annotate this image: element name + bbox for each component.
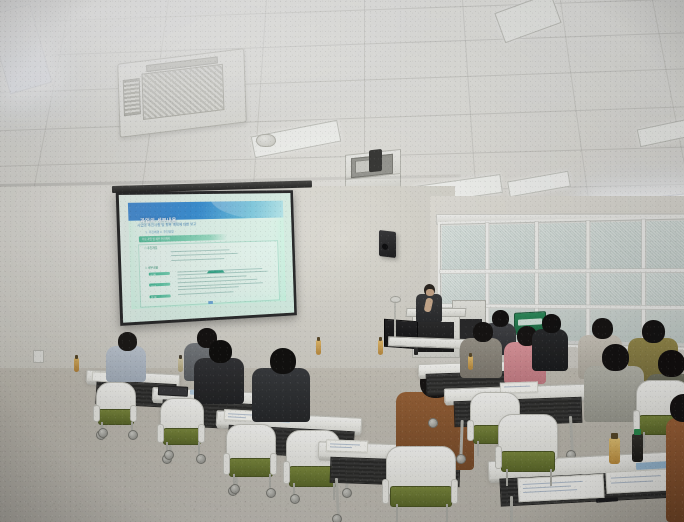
slide-footer-mark	[208, 301, 213, 304]
microphone-icon	[390, 296, 401, 303]
beverage-bottle	[632, 434, 643, 462]
presenter-head	[424, 284, 435, 296]
attendee-mid-1	[460, 322, 502, 376]
wall-speaker-icon	[379, 230, 396, 258]
beverage-bottle	[178, 358, 183, 372]
chair-caster	[230, 484, 240, 494]
beverage-bottle	[609, 438, 620, 464]
wall-outlet-icon	[33, 350, 44, 363]
chair-center-front	[386, 446, 454, 522]
chair-caster	[290, 494, 300, 504]
table-caster	[332, 514, 342, 522]
table-caster	[342, 488, 352, 498]
laptop	[158, 385, 188, 397]
chair-caster	[266, 488, 276, 498]
slide-chip-2-label: 2단계	[151, 284, 157, 288]
microphone-stand	[394, 300, 396, 340]
light-panel-front-left	[0, 4, 52, 95]
seminar-room-photo: 과업의 세부내용 사업의 추진사항 및 향후 계획에 대한 보고 1. 추진배경…	[0, 0, 684, 522]
attendee-right-3	[584, 344, 644, 420]
table-caster	[428, 418, 438, 428]
slide-section-label: 주요 과업 및 세부 추진계획	[142, 236, 170, 241]
attendee-left-4	[252, 348, 310, 420]
slide-subhead-1: □ 추진개요	[145, 246, 158, 250]
chair-caster	[196, 454, 206, 464]
slide-subhead-2: □ 세부내용	[145, 265, 158, 269]
attendee-far-right-edge	[666, 394, 684, 522]
beverage-bottle	[378, 340, 383, 355]
handout-document	[326, 439, 368, 452]
slide-chip-2: 2단계	[149, 283, 171, 287]
slide-subtitle: 사업의 추진사항 및 향후 계획에 대한 보고	[137, 222, 196, 228]
beverage-bottle	[316, 340, 321, 355]
slide-body: □ 추진개요 □ 세부내용 1단계 2단계	[138, 240, 280, 308]
table-caster	[456, 454, 466, 464]
light-panel-right-edge	[637, 119, 684, 147]
chair-front-right	[498, 414, 556, 486]
chair-caster	[164, 450, 174, 460]
attendee-mid-3	[532, 314, 568, 370]
chair-left-1	[96, 382, 134, 434]
chair-left-2	[160, 398, 202, 456]
projection-screen: 과업의 세부내용 사업의 추진사항 및 향후 계획에 대한 보고 1. 추진배경…	[116, 190, 297, 326]
chair-left-3	[226, 424, 274, 490]
chair-caster	[128, 430, 138, 440]
presentation-slide: 과업의 세부내용 사업의 추진사항 및 향후 계획에 대한 보고 1. 추진배경…	[128, 200, 286, 309]
air-conditioner-cassette-icon	[117, 48, 247, 138]
slide-chip-3-label: 3단계	[151, 296, 157, 300]
slide-chip-3: 3단계	[149, 295, 171, 299]
ceiling-sensor-icon	[256, 134, 276, 147]
chair-caster	[98, 428, 108, 438]
slide-chip-1: 1단계	[148, 272, 170, 275]
slide-chip-1-label: 1단계	[150, 273, 156, 277]
beverage-bottle	[74, 358, 79, 372]
slide-tabs: 1. 추진배경 2. 추진방향	[145, 230, 173, 235]
attendee-left-1	[106, 332, 146, 380]
light-panel-right-mid	[507, 171, 571, 198]
beverage-bottle	[468, 356, 473, 370]
attendee-left-3	[194, 340, 244, 402]
